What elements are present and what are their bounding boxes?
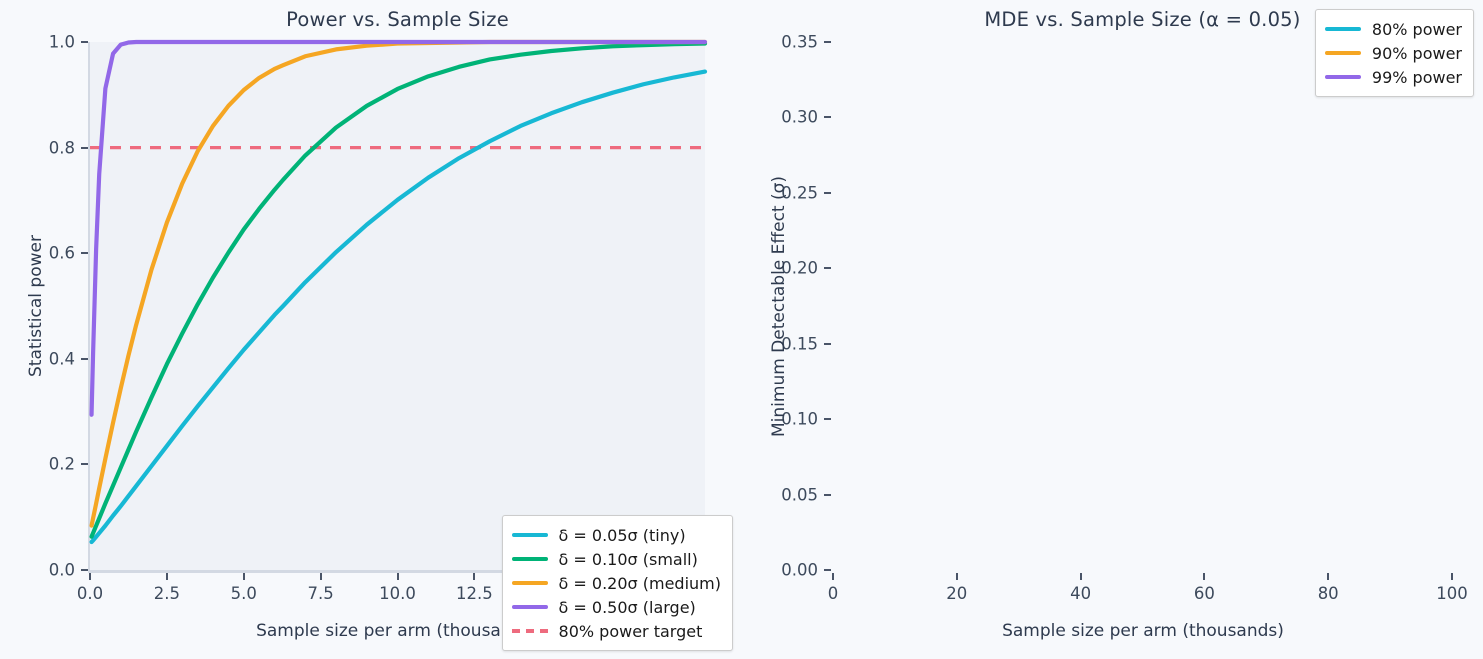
y-tick [824, 343, 831, 345]
left-plot-area [90, 42, 705, 570]
legend-item-label: δ = 0.10σ (small) [559, 550, 698, 569]
legend-item[interactable]: 80% power [1325, 17, 1462, 41]
legend-item[interactable]: 80% power target [512, 619, 721, 643]
x-tick-label: 100 [1436, 584, 1468, 603]
legend-item-label: 80% power [1372, 20, 1462, 39]
series-line [92, 72, 705, 542]
legend-item-label: δ = 0.20σ (medium) [559, 574, 721, 593]
x-tick [397, 573, 399, 580]
legend-item-label: 80% power target [559, 622, 703, 641]
left-chart-title: Power vs. Sample Size [90, 8, 705, 31]
y-tick [81, 569, 88, 571]
x-tick [320, 573, 322, 580]
y-tick-label: 0.05 [742, 485, 818, 504]
legend-item[interactable]: δ = 0.10σ (small) [512, 547, 721, 571]
x-tick-label: 60 [1194, 584, 1215, 603]
y-tick [824, 569, 831, 571]
legend-swatch-icon [1325, 51, 1361, 55]
legend-item[interactable]: δ = 0.20σ (medium) [512, 571, 721, 595]
x-tick-label: 5.0 [231, 584, 257, 603]
legend-swatch-icon [512, 533, 548, 537]
right-y-axis-label: Minimum Detectable Effect (σ) [769, 175, 789, 436]
legend-item[interactable]: 99% power [1325, 65, 1462, 89]
legend-item[interactable]: δ = 0.05σ (tiny) [512, 523, 721, 547]
legend-swatch-icon [1325, 27, 1361, 31]
y-tick [81, 252, 88, 254]
y-tick [824, 41, 831, 43]
x-tick [956, 573, 958, 580]
legend-item-label: δ = 0.50σ (large) [559, 598, 696, 617]
series-line [92, 44, 705, 537]
y-tick [81, 463, 88, 465]
series-line [92, 42, 705, 415]
left-x-axis-label: Sample size per arm (thousands) [256, 621, 538, 641]
x-tick [1327, 573, 1329, 580]
y-tick-label: 0.00 [742, 561, 818, 580]
x-tick-label: 0.0 [77, 584, 103, 603]
left-y-axis-label: Statistical power [26, 235, 46, 377]
legend-swatch-icon [1325, 75, 1361, 79]
x-tick-label: 40 [1070, 584, 1091, 603]
legend-item-label: 99% power [1372, 68, 1462, 87]
x-tick [473, 573, 475, 580]
y-tick-label: 0.2 [0, 455, 75, 474]
legend-swatch-icon [512, 581, 548, 585]
y-tick [824, 267, 831, 269]
left-curves [90, 42, 705, 570]
x-tick-label: 12.5 [456, 584, 493, 603]
x-tick [89, 573, 91, 580]
y-tick-label: 0.30 [742, 108, 818, 127]
x-tick [243, 573, 245, 580]
panel-power-vs-sample-size: Power vs. Sample Size 0.00.20.40.60.81.0… [0, 0, 741, 659]
y-tick [824, 116, 831, 118]
x-tick [166, 573, 168, 580]
y-tick-label: 0.0 [0, 561, 75, 580]
series-line [92, 42, 705, 526]
y-tick-label: 0.8 [0, 138, 75, 157]
legend-swatch-icon [512, 605, 548, 609]
y-tick-label: 1.0 [0, 33, 75, 52]
x-tick-label: 0 [828, 584, 839, 603]
x-tick-label: 7.5 [308, 584, 334, 603]
panel-mde-vs-sample-size: MDE vs. Sample Size (α = 0.05) ↓ more n … [742, 0, 1483, 659]
right-x-axis-label: Sample size per arm (thousands) [1002, 621, 1284, 641]
x-tick [832, 573, 834, 580]
x-tick-label: 10.0 [379, 584, 416, 603]
x-tick [1203, 573, 1205, 580]
x-tick-label: 20 [946, 584, 967, 603]
y-tick [81, 358, 88, 360]
x-tick [1080, 573, 1082, 580]
y-tick [81, 41, 88, 43]
legend-swatch-icon [512, 557, 548, 561]
y-tick [824, 494, 831, 496]
y-tick [81, 147, 88, 149]
y-tick-label: 0.35 [742, 33, 818, 52]
legend-item[interactable]: 90% power [1325, 41, 1462, 65]
x-tick-label: 80 [1318, 584, 1339, 603]
x-tick [1451, 573, 1453, 580]
legend-item-label: 90% power [1372, 44, 1462, 63]
figure-two-panel-power-analysis: Power vs. Sample Size 0.00.20.40.60.81.0… [0, 0, 1483, 659]
y-tick [824, 192, 831, 194]
legend-item[interactable]: δ = 0.50σ (large) [512, 595, 721, 619]
legend-swatch-icon [512, 629, 548, 633]
y-tick [824, 418, 831, 420]
left-legend[interactable]: δ = 0.05σ (tiny)δ = 0.10σ (small)δ = 0.2… [502, 515, 733, 651]
x-tick-label: 2.5 [154, 584, 180, 603]
legend-item-label: δ = 0.05σ (tiny) [559, 526, 686, 545]
right-legend[interactable]: 80% power90% power99% power [1315, 9, 1474, 97]
